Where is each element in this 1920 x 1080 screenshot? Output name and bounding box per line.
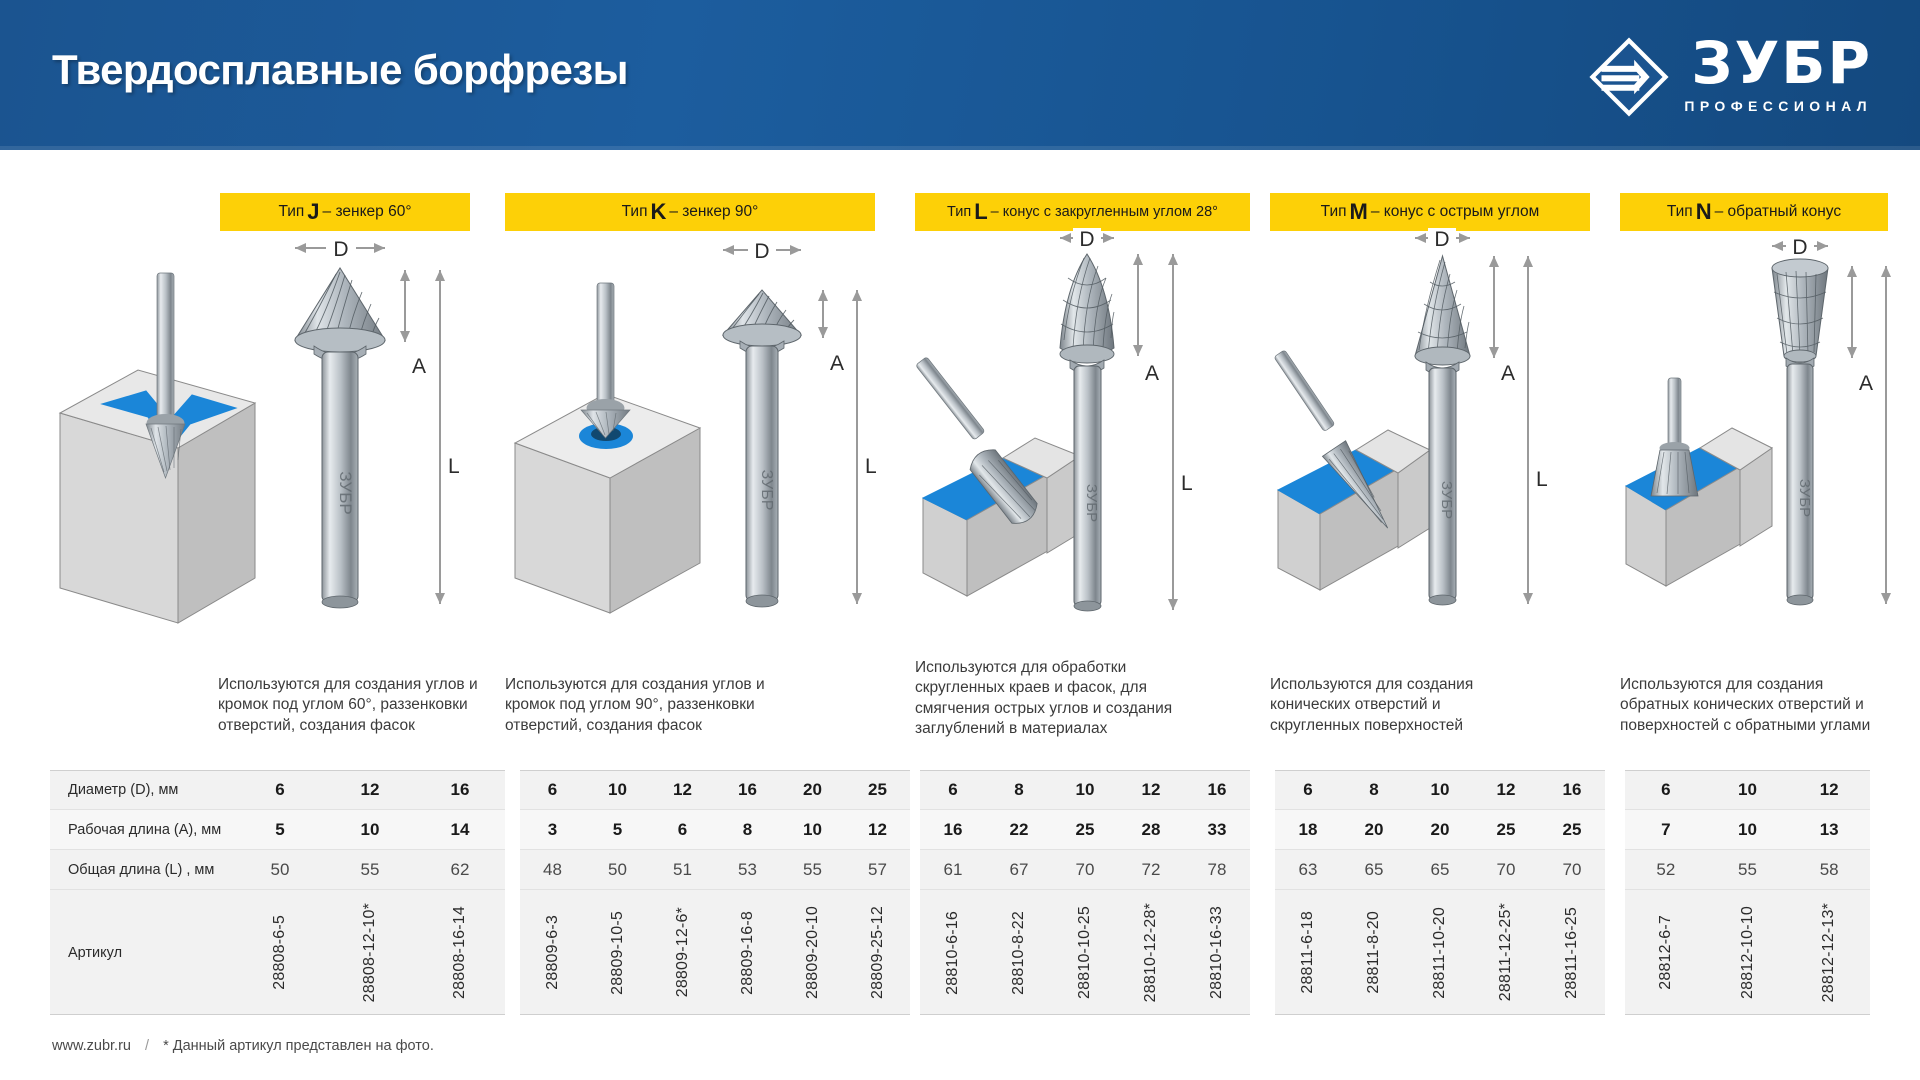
table-row: 16 22 25 28 33 bbox=[920, 810, 1250, 850]
description-M: Используются для создания конических отв… bbox=[1270, 675, 1520, 736]
dim-label-A: A bbox=[830, 352, 844, 375]
dimension-L-K: L bbox=[852, 290, 877, 604]
footer-note: * Данный артикул представлен на фото. bbox=[163, 1038, 434, 1054]
cell-diameter: 6 bbox=[1625, 780, 1707, 800]
tag-suffix-M: – конус с острым углом bbox=[1371, 203, 1540, 221]
cell-overall-length: 53 bbox=[715, 860, 780, 880]
cell-working-length: 25 bbox=[1052, 820, 1118, 840]
dimension-D-K: D bbox=[723, 236, 801, 263]
cell-article: 28810-8-22 bbox=[986, 890, 1052, 1015]
burr-in-workpiece-K bbox=[581, 283, 630, 438]
dim-label-L: L bbox=[865, 455, 877, 478]
cell-working-length: 8 bbox=[715, 820, 780, 840]
illustration-J: ЗУБР D A bbox=[50, 228, 490, 658]
cell-article: 28808-6-5 bbox=[235, 890, 325, 1015]
cell-diameter: 16 bbox=[415, 780, 505, 800]
cell-working-length: 20 bbox=[1407, 820, 1473, 840]
tag-prefix-N: Тип bbox=[1667, 203, 1693, 221]
svg-text:ЗУБР: ЗУБР bbox=[1796, 479, 1813, 517]
description-N: Используются для создания обратных конич… bbox=[1620, 675, 1878, 736]
svg-text:ЗУБР: ЗУБР bbox=[758, 470, 775, 511]
illustration-L: ЗУБР D A bbox=[915, 228, 1260, 658]
table-row: Диаметр (D), мм 6 12 16 bbox=[50, 770, 505, 810]
cell-diameter: 12 bbox=[1118, 780, 1184, 800]
product-burr-M: ЗУБР bbox=[1415, 256, 1470, 605]
dimension-D-J: D bbox=[295, 234, 385, 261]
table-row: 7 10 13 bbox=[1625, 810, 1870, 850]
page-title: Твердосплавные борфрезы bbox=[52, 46, 628, 94]
burr-in-workpiece-N bbox=[1651, 378, 1698, 496]
brand-name: ЗУБР bbox=[1691, 36, 1872, 91]
cell-working-length: 28 bbox=[1118, 820, 1184, 840]
product-burr-N: ЗУБР bbox=[1772, 259, 1828, 605]
website-link[interactable]: www.zubr.ru bbox=[52, 1038, 131, 1054]
cell-article: 28811-8-20 bbox=[1341, 890, 1407, 1015]
table-row: 28812-6-7 28812-10-10 28812-12-13* bbox=[1625, 890, 1870, 1015]
cell-article: 28811-12-25* bbox=[1473, 890, 1539, 1015]
table-row: 3 5 6 8 10 12 bbox=[520, 810, 910, 850]
table-row: 18 20 20 25 25 bbox=[1275, 810, 1605, 850]
cell-diameter: 25 bbox=[845, 780, 910, 800]
product-column-J: Тип J – зенкер 60° bbox=[50, 150, 490, 770]
svg-text:ЗУБР: ЗУБР bbox=[1438, 481, 1455, 519]
cell-article: 28811-6-18 bbox=[1275, 890, 1341, 1015]
cell-overall-length: 52 bbox=[1625, 860, 1707, 880]
table-row: 28810-6-16 28810-8-22 28810-10-25 28810-… bbox=[920, 890, 1250, 1015]
dimension-D-M: D bbox=[1415, 228, 1470, 251]
cell-article: 28808-12-10* bbox=[325, 890, 415, 1015]
cell-diameter: 10 bbox=[1707, 780, 1789, 800]
table-row: 61 67 70 72 78 bbox=[920, 850, 1250, 890]
dimension-L-L: L bbox=[1168, 254, 1193, 610]
brand-logo: ЗУБР ПРОФЕССИОНАЛ bbox=[1586, 34, 1872, 120]
row-label-article: Артикул bbox=[50, 945, 235, 961]
cell-overall-length: 70 bbox=[1052, 860, 1118, 880]
svg-text:ЗУБР: ЗУБР bbox=[1083, 484, 1100, 522]
cell-article: 28809-25-12 bbox=[845, 890, 910, 1015]
table-row: 52 55 58 bbox=[1625, 850, 1870, 890]
cell-overall-length: 72 bbox=[1118, 860, 1184, 880]
cell-overall-length: 50 bbox=[585, 860, 650, 880]
type-tag-N: Тип N – обратный конус bbox=[1620, 193, 1888, 231]
cell-diameter: 6 bbox=[235, 780, 325, 800]
cell-overall-length: 78 bbox=[1184, 860, 1250, 880]
dimension-A-L: A bbox=[1133, 254, 1159, 385]
row-label-diameter: Диаметр (D), мм bbox=[50, 782, 235, 798]
tag-prefix-J: Тип bbox=[278, 203, 304, 221]
brand-tagline: ПРОФЕССИОНАЛ bbox=[1684, 98, 1872, 114]
product-column-M: Тип M – конус с острым углом bbox=[1270, 150, 1610, 770]
cell-working-length: 18 bbox=[1275, 820, 1341, 840]
table-row: 28811-6-18 28811-8-20 28811-10-20 28811-… bbox=[1275, 890, 1605, 1015]
cell-working-length: 10 bbox=[780, 820, 845, 840]
cell-working-length: 5 bbox=[585, 820, 650, 840]
product-column-L: Тип L – конус с закругленным углом 28° bbox=[915, 150, 1260, 770]
tag-prefix-K: Тип bbox=[622, 203, 648, 221]
cell-article: 28810-12-28* bbox=[1118, 890, 1184, 1015]
dim-label-D: D bbox=[1434, 228, 1449, 251]
tag-letter-N: N bbox=[1693, 201, 1715, 223]
cell-article: 28809-10-5 bbox=[585, 890, 650, 1015]
cell-diameter: 10 bbox=[585, 780, 650, 800]
cell-overall-length: 55 bbox=[1707, 860, 1789, 880]
cell-diameter: 10 bbox=[1052, 780, 1118, 800]
spec-table-K: 6 10 12 16 20 25 3 5 6 8 10 12 48 50 51 … bbox=[520, 770, 910, 1015]
page-header: Твердосплавные борфрезы ЗУБР ПРОФЕССИОНА… bbox=[0, 0, 1920, 150]
cell-article: 28809-20-10 bbox=[780, 890, 845, 1015]
cell-diameter: 16 bbox=[1184, 780, 1250, 800]
dim-label-D: D bbox=[1792, 236, 1807, 259]
cell-overall-length: 67 bbox=[986, 860, 1052, 880]
cell-working-length: 10 bbox=[325, 820, 415, 840]
cell-diameter: 12 bbox=[650, 780, 715, 800]
illustration-K: ЗУБР D A bbox=[505, 228, 910, 658]
product-columns: Тип J – зенкер 60° bbox=[0, 150, 1920, 770]
cell-overall-length: 51 bbox=[650, 860, 715, 880]
workpiece-block-M bbox=[1278, 430, 1430, 590]
workpiece-block-N bbox=[1626, 428, 1772, 586]
product-burr-J: ЗУБР bbox=[295, 268, 385, 608]
cell-working-length: 6 bbox=[650, 820, 715, 840]
cell-article: 28809-12-6* bbox=[650, 890, 715, 1015]
cell-article: 28809-16-8 bbox=[715, 890, 780, 1015]
cell-working-length: 5 bbox=[235, 820, 325, 840]
table-row: 6 10 12 16 20 25 bbox=[520, 770, 910, 810]
cell-overall-length: 62 bbox=[415, 860, 505, 880]
cell-overall-length: 55 bbox=[325, 860, 415, 880]
type-tag-K: Тип K – зенкер 90° bbox=[505, 193, 875, 231]
cell-overall-length: 61 bbox=[920, 860, 986, 880]
product-burr-K: ЗУБР bbox=[723, 290, 801, 607]
cell-article: 28812-12-13* bbox=[1788, 890, 1870, 1015]
cell-working-length: 25 bbox=[1539, 820, 1605, 840]
cell-working-length: 33 bbox=[1184, 820, 1250, 840]
dim-label-L: L bbox=[1536, 468, 1548, 491]
table-row: 48 50 51 53 55 57 bbox=[520, 850, 910, 890]
product-column-N: Тип N – обратный конус bbox=[1620, 150, 1910, 770]
cell-article: 28812-6-7 bbox=[1625, 890, 1707, 1015]
tag-letter-K: K bbox=[647, 201, 669, 223]
cell-overall-length: 58 bbox=[1788, 860, 1870, 880]
footer-separator: / bbox=[135, 1038, 159, 1054]
dim-label-A: A bbox=[1145, 362, 1159, 385]
dimension-A-J: A bbox=[400, 270, 426, 378]
cell-article: 28809-6-3 bbox=[520, 890, 585, 1015]
cell-overall-length: 70 bbox=[1539, 860, 1605, 880]
cell-article: 28810-10-25 bbox=[1052, 890, 1118, 1015]
cell-overall-length: 65 bbox=[1407, 860, 1473, 880]
dim-label-D: D bbox=[333, 238, 348, 261]
cell-overall-length: 48 bbox=[520, 860, 585, 880]
cell-working-length: 10 bbox=[1707, 820, 1789, 840]
cell-overall-length: 65 bbox=[1341, 860, 1407, 880]
description-J: Используются для создания углов и кромок… bbox=[218, 675, 488, 736]
page-footer: www.zubr.ru / * Данный артикул представл… bbox=[52, 1038, 434, 1054]
product-burr-L: ЗУБР bbox=[1060, 254, 1114, 611]
dim-label-D: D bbox=[754, 240, 769, 263]
description-K: Используются для создания углов и кромок… bbox=[505, 675, 795, 736]
cell-diameter: 12 bbox=[1473, 780, 1539, 800]
cell-diameter: 16 bbox=[715, 780, 780, 800]
type-tag-M: Тип M – конус с острым углом bbox=[1270, 193, 1590, 231]
cell-diameter: 6 bbox=[1275, 780, 1341, 800]
tag-prefix-L: Тип bbox=[947, 204, 971, 220]
cell-article: 28811-16-25 bbox=[1539, 890, 1605, 1015]
table-row: 6 10 12 bbox=[1625, 770, 1870, 810]
type-tag-L: Тип L – конус с закругленным углом 28° bbox=[915, 193, 1250, 231]
cell-diameter: 10 bbox=[1407, 780, 1473, 800]
spec-table-N: 6 10 12 7 10 13 52 55 58 28812-6-7 28812… bbox=[1625, 770, 1870, 1015]
spec-tables: Диаметр (D), мм 6 12 16 Рабочая длина (A… bbox=[0, 770, 1920, 1020]
tag-suffix-L: – конус с закругленным углом 28° bbox=[991, 204, 1218, 220]
row-label-working-length: Рабочая длина (A), мм bbox=[50, 822, 235, 838]
tag-suffix-K: – зенкер 90° bbox=[669, 203, 758, 221]
datasheet-page: Твердосплавные борфрезы ЗУБР ПРОФЕССИОНА… bbox=[0, 0, 1920, 1080]
cell-diameter: 12 bbox=[1788, 780, 1870, 800]
cell-diameter: 6 bbox=[520, 780, 585, 800]
dimension-D-L: D bbox=[1060, 228, 1114, 251]
cell-overall-length: 55 bbox=[780, 860, 845, 880]
cell-diameter: 12 bbox=[325, 780, 415, 800]
illustration-N: ЗУБР D A bbox=[1620, 228, 1910, 658]
cell-diameter: 6 bbox=[920, 780, 986, 800]
dim-label-A: A bbox=[1859, 372, 1873, 395]
cell-working-length: 13 bbox=[1788, 820, 1870, 840]
dim-label-A: A bbox=[1501, 362, 1515, 385]
cell-working-length: 3 bbox=[520, 820, 585, 840]
dim-label-D: D bbox=[1079, 228, 1094, 251]
tag-suffix-J: – зенкер 60° bbox=[323, 203, 412, 221]
tag-letter-L: L bbox=[971, 201, 990, 223]
cell-article: 28812-10-10 bbox=[1707, 890, 1789, 1015]
cell-article: 28811-10-20 bbox=[1407, 890, 1473, 1015]
spec-table-L: 6 8 10 12 16 16 22 25 28 33 61 67 70 72 … bbox=[920, 770, 1250, 1015]
description-L: Используются для обработки скругленных к… bbox=[915, 658, 1180, 740]
type-tag-J: Тип J – зенкер 60° bbox=[220, 193, 470, 231]
dimension-L-J: L bbox=[435, 270, 460, 604]
cell-diameter: 8 bbox=[1341, 780, 1407, 800]
table-row: 6 8 10 12 16 bbox=[920, 770, 1250, 810]
cell-diameter: 8 bbox=[986, 780, 1052, 800]
cell-article: 28810-6-16 bbox=[920, 890, 986, 1015]
dim-label-A: A bbox=[412, 355, 426, 378]
cell-working-length: 25 bbox=[1473, 820, 1539, 840]
dim-label-L: L bbox=[1181, 472, 1193, 495]
product-column-K: Тип K – зенкер 90° bbox=[505, 150, 910, 770]
table-row: 6 8 10 12 16 bbox=[1275, 770, 1605, 810]
cell-working-length: 22 bbox=[986, 820, 1052, 840]
tag-letter-M: M bbox=[1347, 201, 1371, 223]
dimension-L-N bbox=[1881, 266, 1891, 604]
spec-table-M: 6 8 10 12 16 18 20 20 25 25 63 65 65 70 … bbox=[1275, 770, 1605, 1015]
cell-working-length: 16 bbox=[920, 820, 986, 840]
dimension-A-K: A bbox=[818, 290, 844, 375]
dimension-D-N: D bbox=[1772, 232, 1828, 259]
cell-overall-length: 63 bbox=[1275, 860, 1341, 880]
tag-prefix-M: Тип bbox=[1321, 203, 1347, 221]
table-row: Рабочая длина (A), мм 5 10 14 bbox=[50, 810, 505, 850]
table-row: 28809-6-3 28809-10-5 28809-12-6* 28809-1… bbox=[520, 890, 910, 1015]
cell-working-length: 14 bbox=[415, 820, 505, 840]
cell-article: 28810-16-33 bbox=[1184, 890, 1250, 1015]
cell-article: 28808-16-14 bbox=[415, 890, 505, 1015]
cell-working-length: 7 bbox=[1625, 820, 1707, 840]
tag-suffix-N: – обратный конус bbox=[1715, 203, 1842, 221]
dimension-A-N: A bbox=[1847, 266, 1873, 395]
zubr-arrow-diamond-icon bbox=[1586, 34, 1672, 120]
illustration-M: ЗУБР D A bbox=[1270, 228, 1610, 658]
tag-letter-J: J bbox=[304, 201, 322, 223]
dimension-A-M: A bbox=[1489, 256, 1515, 385]
cell-overall-length: 50 bbox=[235, 860, 325, 880]
dim-label-L: L bbox=[448, 455, 460, 478]
cell-working-length: 12 bbox=[845, 820, 910, 840]
svg-text:ЗУБР: ЗУБР bbox=[336, 471, 355, 514]
row-label-overall-length: Общая длина (L) , мм bbox=[50, 862, 235, 878]
cell-diameter: 16 bbox=[1539, 780, 1605, 800]
table-row: Общая длина (L) , мм 50 55 62 bbox=[50, 850, 505, 890]
dimension-L-M: L bbox=[1523, 256, 1548, 604]
cell-overall-length: 70 bbox=[1473, 860, 1539, 880]
table-row: Артикул 28808-6-5 28808-12-10* 28808-16-… bbox=[50, 890, 505, 1015]
cell-overall-length: 57 bbox=[845, 860, 910, 880]
spec-table-J: Диаметр (D), мм 6 12 16 Рабочая длина (A… bbox=[50, 770, 505, 1015]
cell-working-length: 20 bbox=[1341, 820, 1407, 840]
table-row: 63 65 65 70 70 bbox=[1275, 850, 1605, 890]
cell-diameter: 20 bbox=[780, 780, 845, 800]
